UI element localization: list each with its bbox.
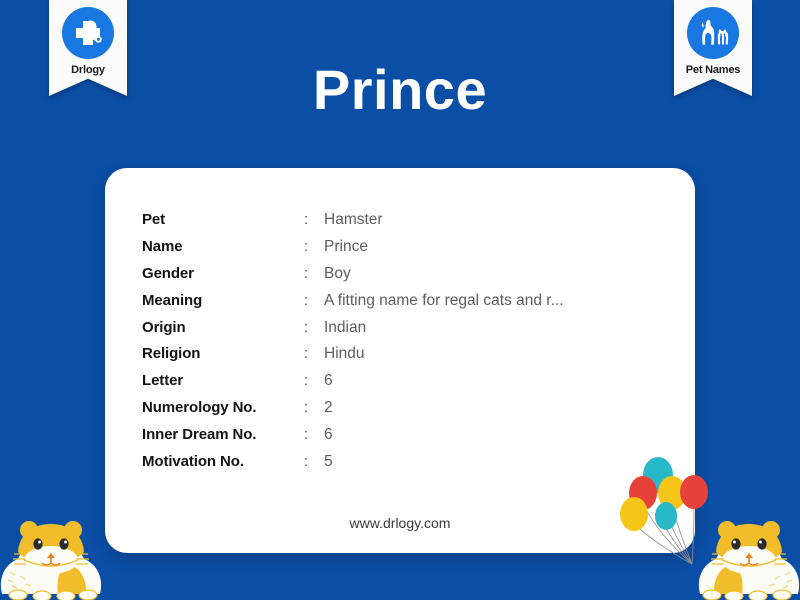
detail-label: Letter [142, 372, 304, 389]
detail-value: 5 [324, 453, 333, 471]
hamster-icon [696, 520, 800, 600]
detail-label: Pet [142, 211, 304, 228]
detail-row: Inner Dream No. : 6 [142, 426, 675, 453]
website-url: www.drlogy.com [105, 515, 695, 531]
detail-row: Motivation No. : 5 [142, 453, 675, 480]
detail-value: Boy [324, 265, 351, 283]
detail-label: Numerology No. [142, 399, 304, 416]
detail-row: Gender : Boy [142, 265, 675, 292]
page-title: Prince [0, 62, 800, 118]
detail-label: Religion [142, 345, 304, 362]
detail-row: Name : Prince [142, 238, 675, 265]
detail-value: Hamster [324, 211, 383, 229]
card-watermark-text [140, 180, 660, 198]
detail-value: Prince [324, 238, 368, 256]
detail-separator: : [304, 292, 324, 309]
detail-value: 6 [324, 426, 333, 444]
detail-value: 6 [324, 372, 333, 390]
detail-row: Pet : Hamster [142, 211, 675, 238]
detail-value: Indian [324, 319, 366, 337]
detail-separator: : [304, 238, 324, 255]
detail-separator: : [304, 211, 324, 228]
detail-value: A fitting name for regal cats and r... [324, 292, 564, 310]
detail-row: Origin : Indian [142, 319, 675, 346]
detail-separator: : [304, 453, 324, 470]
detail-separator: : [304, 265, 324, 282]
detail-row: Meaning : A fitting name for regal cats … [142, 292, 675, 319]
detail-separator: : [304, 399, 324, 416]
pet-name-detail-card: Pet : Hamster Name : Prince Gender : Boy… [105, 168, 695, 553]
detail-value: 2 [324, 399, 333, 417]
detail-label: Origin [142, 319, 304, 336]
detail-label: Name [142, 238, 304, 255]
detail-separator: : [304, 426, 324, 443]
detail-separator: : [304, 345, 324, 362]
detail-label: Motivation No. [142, 453, 304, 470]
detail-row: Numerology No. : 2 [142, 399, 675, 426]
detail-value: Hindu [324, 345, 365, 363]
detail-label: Meaning [142, 292, 304, 309]
detail-separator: : [304, 319, 324, 336]
detail-list: Pet : Hamster Name : Prince Gender : Boy… [142, 211, 675, 480]
dog-cat-icon [687, 7, 739, 59]
detail-row: Letter : 6 [142, 372, 675, 399]
hamster-icon [0, 520, 104, 600]
poster-canvas: Drlogy Pet Names Prince Pet : Hams [0, 0, 800, 600]
detail-separator: : [304, 372, 324, 389]
medical-cross-stethoscope-icon [62, 7, 114, 59]
detail-label: Inner Dream No. [142, 426, 304, 443]
detail-row: Religion : Hindu [142, 345, 675, 372]
detail-label: Gender [142, 265, 304, 282]
